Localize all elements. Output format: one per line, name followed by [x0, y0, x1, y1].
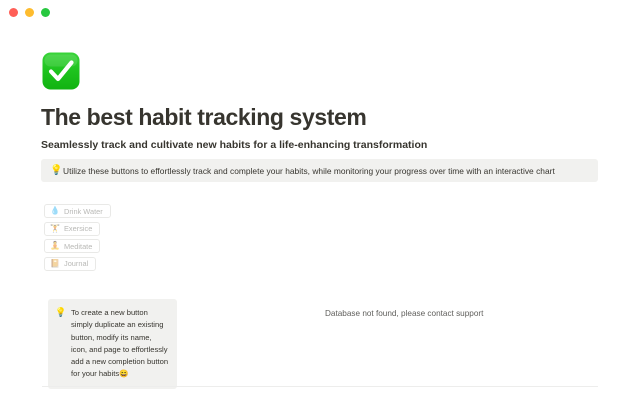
light-bulb-icon: 💡: [50, 166, 63, 176]
close-window-button[interactable]: [9, 8, 18, 17]
page-content: The best habit tracking system Seamlessl…: [0, 26, 640, 400]
maximize-window-button[interactable]: [41, 8, 50, 17]
database-error-message: Database not found, please contact suppo…: [325, 309, 483, 318]
light-bulb-icon: 💡: [55, 307, 66, 381]
white-heavy-check-mark-icon: [41, 51, 81, 91]
tip-callout: 💡 To create a new button simply duplicat…: [48, 299, 177, 389]
minimize-window-button[interactable]: [25, 8, 34, 17]
window-traffic-lights: [9, 8, 50, 17]
app-window: The best habit tracking system Seamlessl…: [0, 0, 640, 400]
info-callout: 💡 Utilize these buttons to effortlessly …: [41, 159, 598, 182]
habit-button-drink-water[interactable]: 💧 Drink Water: [44, 204, 111, 218]
habit-button-exersice[interactable]: 🏋 Exersice: [44, 222, 100, 236]
person-in-lotus-position-icon: 🧘: [50, 242, 59, 250]
weight-lifter-icon: 🏋: [50, 225, 59, 233]
habit-button-journal[interactable]: 📔 Journal: [44, 257, 96, 271]
info-callout-text: Utilize these buttons to effortlessly tr…: [63, 166, 555, 176]
page-subtitle: Seamlessly track and cultivate new habit…: [41, 139, 427, 151]
section-divider: [42, 386, 598, 387]
habit-button-label: Exersice: [64, 224, 92, 233]
habit-button-label: Drink Water: [64, 207, 103, 216]
notebook-icon: 📔: [50, 260, 59, 268]
page-title: The best habit tracking system: [41, 104, 366, 131]
habit-button-list: 💧 Drink Water 🏋 Exersice 🧘 Meditate 📔 Jo…: [44, 204, 111, 271]
droplet-icon: 💧: [50, 207, 59, 215]
habit-button-meditate[interactable]: 🧘 Meditate: [44, 239, 100, 253]
tip-callout-text: To create a new button simply duplicate …: [71, 307, 169, 381]
window-titlebar: [0, 0, 640, 26]
habit-button-label: Journal: [64, 259, 88, 268]
habit-button-label: Meditate: [64, 242, 92, 251]
